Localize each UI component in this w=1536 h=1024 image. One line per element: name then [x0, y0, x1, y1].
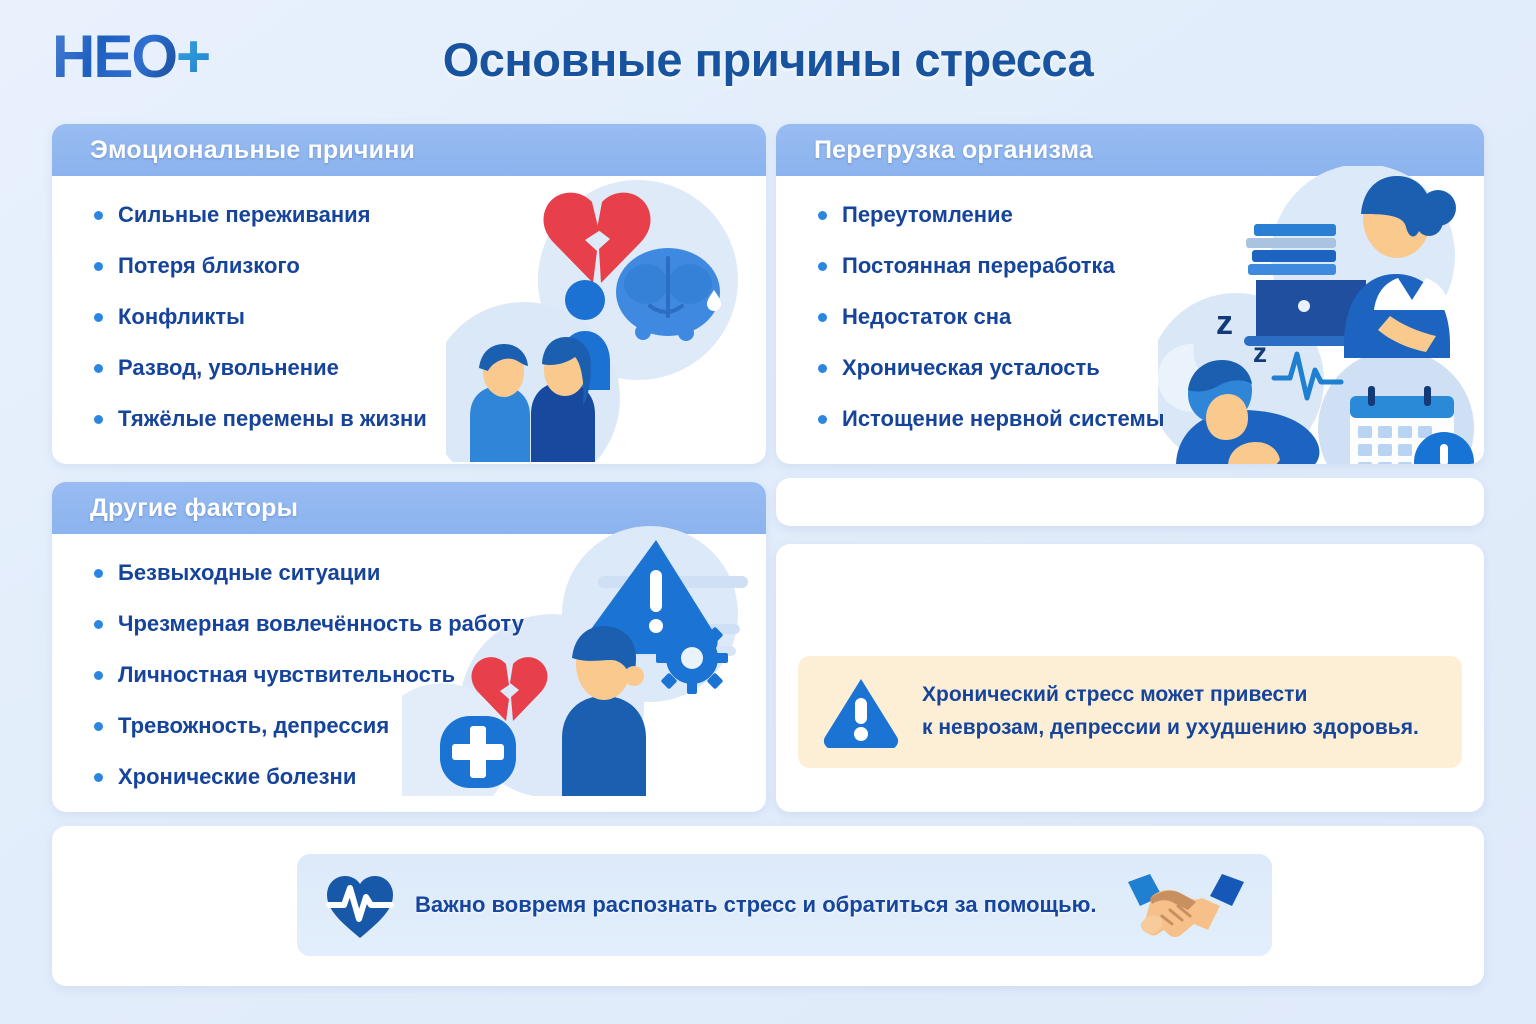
card-bottom-banner: Важно вовремя распознать стресс и обрати…: [52, 826, 1484, 986]
list-item-label: Истощение нервной системы: [842, 406, 1165, 432]
content-grid: Эмоциональные причини: [0, 118, 1536, 1024]
list-item: Личностная чувствительность: [94, 662, 766, 688]
list-item: Хронические болезни: [94, 764, 766, 790]
bullet-dot-icon: [94, 620, 103, 629]
bullet-dot-icon: [94, 569, 103, 578]
list-item-label: Тяжёлые перемены в жизни: [118, 406, 427, 432]
warning-callout: Хронический стресс может привести к невр…: [798, 656, 1462, 768]
list-item-label: Личностная чувствительность: [118, 662, 455, 688]
call-to-action-banner: Важно вовремя распознать стресс и обрати…: [297, 854, 1272, 956]
list-item-label: Потеря близкого: [118, 253, 300, 279]
list-item-label: Постоянная переработка: [842, 253, 1115, 279]
card-header-overload: Перегрузка организма: [776, 124, 1484, 176]
bullet-dot-icon: [94, 262, 103, 271]
list-item: Недостаток сна: [818, 304, 1484, 330]
card-title-other: Другие факторы: [90, 494, 298, 523]
card-warning-note: Хронический стресс может привести к невр…: [776, 544, 1484, 812]
list-item: Постоянная переработка: [818, 253, 1484, 279]
list-item-label: Сильные переживания: [118, 202, 370, 228]
card-header-other: Другие факторы: [52, 482, 766, 534]
bullet-dot-icon: [94, 211, 103, 220]
card-title-overload: Перегрузка организма: [814, 136, 1093, 165]
card-title-emotional: Эмоциональные причини: [90, 136, 415, 165]
bullet-dot-icon: [94, 415, 103, 424]
warning-note-line-2: к неврозам, депрессии и ухудшению здоров…: [922, 712, 1419, 745]
list-item: Потеря близкого: [94, 253, 766, 279]
list-item-label: Тревожность, депрессия: [118, 713, 389, 739]
list-item: Развод, увольнение: [94, 355, 766, 381]
list-item: Тревожность, депрессия: [94, 713, 766, 739]
list-item-label: Безвыходные ситуации: [118, 560, 380, 586]
bullet-dot-icon: [818, 262, 827, 271]
card-body-overload: Перегрузка организма: [776, 124, 1484, 464]
list-item-label: Развод, увольнение: [118, 355, 339, 381]
list-emotional-causes: Сильные переживания Потеря близкого Конф…: [52, 176, 766, 432]
bullet-dot-icon: [818, 211, 827, 220]
list-item: Сильные переживания: [94, 202, 766, 228]
list-item-label: Недостаток сна: [842, 304, 1011, 330]
bullet-dot-icon: [94, 773, 103, 782]
card-empty-spacer: [776, 478, 1484, 526]
page-title: Основные причины стресса: [0, 32, 1536, 87]
card-other-factors: Другие факторы: [52, 482, 766, 812]
warning-note-line-1: Хронический стресс может привести: [922, 679, 1419, 712]
list-item: Конфликты: [94, 304, 766, 330]
bullet-dot-icon: [818, 313, 827, 322]
list-item: Истощение нервной системы: [818, 406, 1484, 432]
warning-triangle-icon: [822, 676, 900, 748]
page-header: НЕО+ Основные причины стресса: [0, 0, 1536, 118]
list-item-label: Переутомление: [842, 202, 1013, 228]
list-other-factors: Безвыходные ситуации Чрезмерная вовлечён…: [52, 534, 766, 790]
bullet-dot-icon: [94, 722, 103, 731]
bullet-dot-icon: [818, 415, 827, 424]
handshake-icon: [1126, 868, 1246, 942]
card-body-emotional: Сильные переживания Потеря близкого Конф…: [52, 176, 766, 464]
list-item: Хроническая усталость: [818, 355, 1484, 381]
list-item: Тяжёлые перемены в жизни: [94, 406, 766, 432]
list-item-label: Хроническая усталость: [842, 355, 1100, 381]
warning-note-text: Хронический стресс может привести к невр…: [922, 679, 1419, 744]
list-item-label: Хронические болезни: [118, 764, 356, 790]
bullet-dot-icon: [94, 364, 103, 373]
list-overload-causes: Переутомление Постоянная переработка Нед…: [776, 176, 1484, 432]
list-item: Чрезмерная вовлечённость в работу: [94, 611, 766, 637]
card-body-other: Безвыходные ситуации Чрезмерная вовлечён…: [52, 534, 766, 812]
list-item-label: Конфликты: [118, 304, 245, 330]
card-header-emotional: Эмоциональные причини: [52, 124, 766, 176]
card-body-overload-content: z z: [776, 176, 1484, 464]
list-item: Переутомление: [818, 202, 1484, 228]
bullet-dot-icon: [94, 671, 103, 680]
banner-message: Важно вовремя распознать стресс и обрати…: [415, 892, 1108, 918]
card-emotional-causes: Эмоциональные причини: [52, 124, 766, 464]
heart-pulse-icon: [323, 870, 397, 940]
bullet-dot-icon: [94, 313, 103, 322]
list-item: Безвыходные ситуации: [94, 560, 766, 586]
list-item-label: Чрезмерная вовлечённость в работу: [118, 611, 524, 637]
bullet-dot-icon: [818, 364, 827, 373]
